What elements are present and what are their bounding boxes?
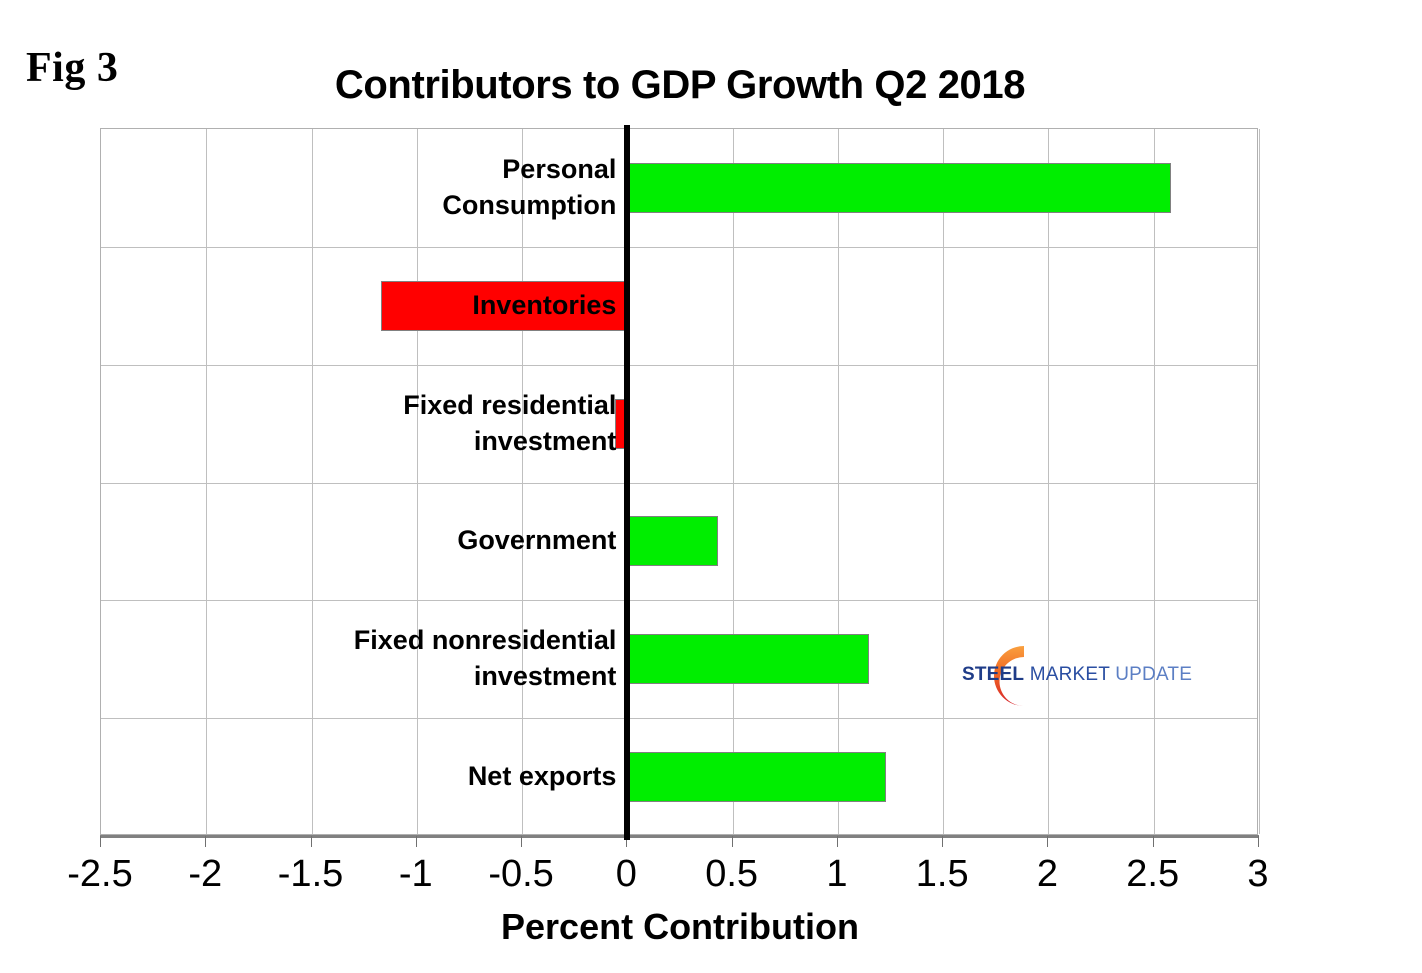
bar [627, 163, 1170, 213]
gridline-v [312, 129, 313, 834]
x-tick-label: 2 [987, 853, 1107, 896]
gridline-v [1259, 129, 1260, 834]
x-tick-label: 1.5 [882, 853, 1002, 896]
plot-area [100, 128, 1258, 835]
gridline-h [101, 247, 1257, 248]
x-tick [1258, 836, 1259, 847]
category-label: Fixed nonresidential investment [250, 622, 626, 694]
category-label: Fixed residential investment [250, 387, 626, 459]
bar [627, 516, 718, 566]
gridline-h [101, 365, 1257, 366]
bar [627, 634, 869, 684]
x-tick-label: -1 [356, 853, 476, 896]
chart-page: Fig 3 Contributors to GDP Growth Q2 2018… [0, 0, 1422, 973]
x-tick [205, 836, 206, 847]
gridline-v [943, 129, 944, 834]
x-tick [1153, 836, 1154, 847]
x-tick [942, 836, 943, 847]
category-label: Net exports [250, 758, 626, 794]
x-tick-label: -2 [145, 853, 265, 896]
logo-word-steel: STEEL [962, 664, 1024, 685]
gridline-v [206, 129, 207, 834]
logo-word-update: UPDATE [1115, 664, 1192, 685]
chart-title: Contributors to GDP Growth Q2 2018 [100, 60, 1260, 110]
category-label: Inventories [250, 287, 626, 323]
gridline-h [101, 483, 1257, 484]
gridline-v [1048, 129, 1049, 834]
category-label: Government [250, 522, 626, 558]
x-tick [521, 836, 522, 847]
gridline-v [838, 129, 839, 834]
x-tick-label: -0.5 [461, 853, 581, 896]
x-tick [416, 836, 417, 847]
x-tick-label: 2.5 [1093, 853, 1213, 896]
x-tick [311, 836, 312, 847]
logo-text: STEEL MARKET UPDATE [962, 664, 1182, 686]
x-tick [100, 836, 101, 847]
gridline-v [1154, 129, 1155, 834]
x-tick [1047, 836, 1048, 847]
x-tick [732, 836, 733, 847]
gridline-v [733, 129, 734, 834]
x-tick [837, 836, 838, 847]
bar [627, 752, 886, 802]
x-tick-label: 0 [566, 853, 686, 896]
x-axis-line [100, 835, 1259, 838]
logo-word-market: MARKET [1030, 664, 1110, 685]
x-tick-label: -2.5 [40, 853, 160, 896]
x-tick-label: 0.5 [672, 853, 792, 896]
x-axis-title: Percent Contribution [100, 906, 1260, 948]
gridline-h [101, 600, 1257, 601]
category-label: Personal Consumption [250, 151, 626, 223]
x-tick-label: 3 [1198, 853, 1318, 896]
x-tick-label: 1 [777, 853, 897, 896]
steel-market-update-logo: STEEL MARKET UPDATE [962, 634, 1182, 720]
gridline-v [417, 129, 418, 834]
x-tick-label: -1.5 [251, 853, 371, 896]
zero-axis-line [624, 125, 630, 840]
gridline-v [522, 129, 523, 834]
